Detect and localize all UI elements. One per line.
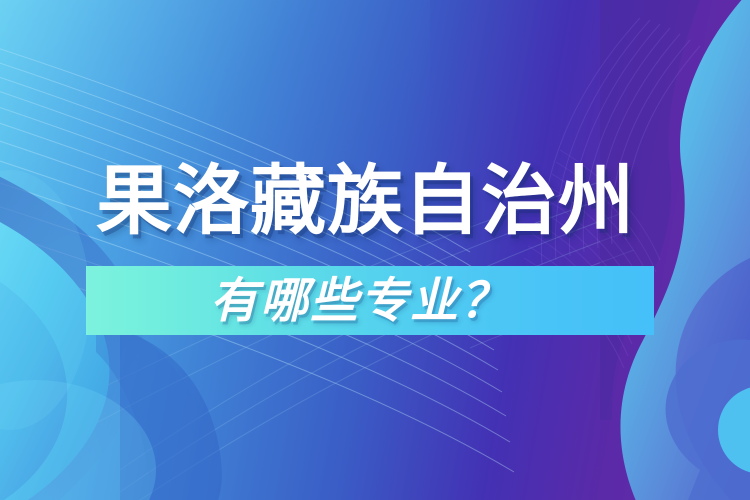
background-artwork [0, 0, 750, 500]
promo-banner: 果洛藏族自治州 有哪些专业？ [0, 0, 750, 500]
right-wave-group [600, 0, 750, 500]
left-arc-rings [470, 292, 622, 348]
